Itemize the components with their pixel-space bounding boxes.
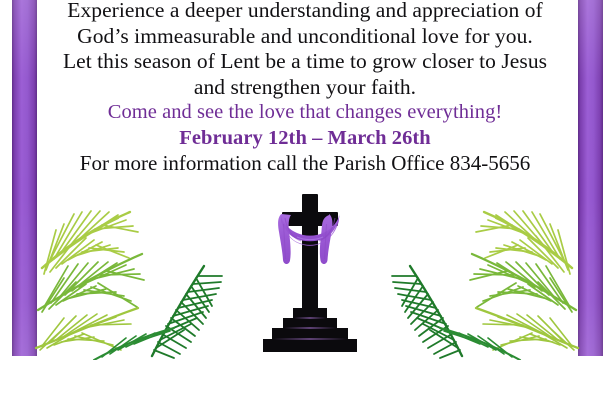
- cross-graphic: [263, 194, 357, 356]
- palm-frond-cluster-icon: [380, 190, 580, 360]
- message-line-1: Experience a deeper understanding and ap…: [45, 0, 565, 24]
- invitation-line: Come and see the love that changes every…: [45, 100, 565, 126]
- message-line-2: God’s immeasurable and unconditional lov…: [45, 24, 565, 50]
- palm-frond-cluster-icon: [34, 190, 234, 360]
- lent-poster: Experience a deeper understanding Experi…: [0, 0, 610, 420]
- message-line-4: and strengthen your faith.: [45, 75, 565, 101]
- message-line-3: Let this season of Lent be a time to gro…: [45, 49, 565, 75]
- poster-message-block: Experience a deeper understanding Experi…: [45, 0, 565, 177]
- purple-drape-icon: [263, 194, 357, 356]
- contact-line: For more information call the Parish Off…: [45, 151, 565, 177]
- palm-fronds-left: [34, 190, 234, 360]
- date-range-line: February 12th – March 26th: [45, 126, 565, 152]
- right-border-sheen: [578, 0, 603, 356]
- right-purple-border: [578, 0, 603, 356]
- palm-fronds-right: [380, 190, 580, 360]
